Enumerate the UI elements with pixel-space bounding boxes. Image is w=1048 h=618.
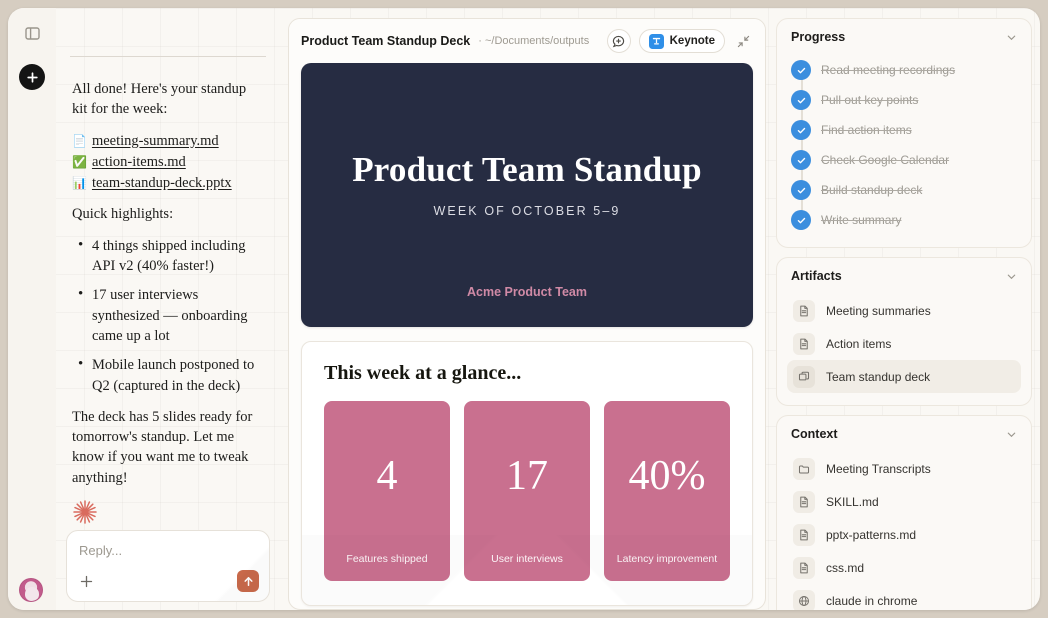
artifact-item-meeting-summaries[interactable]: Meeting summaries [787, 294, 1021, 327]
context-label: Meeting Transcripts [826, 462, 931, 476]
context-item-skill-md[interactable]: SKILL.md [787, 485, 1021, 518]
progress-item[interactable]: Build standup deck [791, 175, 1021, 205]
slide-scroll-area[interactable]: Product Team Standup WEEK OF OCTOBER 5–9… [289, 63, 765, 609]
metric-value: 17 [506, 455, 548, 497]
slide-footer-text: Acme Product Team [467, 285, 587, 299]
chat-transcript: All done! Here's your standup kit for th… [64, 57, 272, 530]
file-link-row[interactable]: 📄 meeting-summary.md [72, 131, 264, 151]
panel-title: Artifacts [791, 269, 842, 283]
check-icon: ✅ [72, 154, 87, 171]
document-card: Product Team Standup Deck · ~/Documents/… [288, 18, 766, 610]
context-panel: Context Meeting Transcripts [776, 415, 1032, 610]
progress-item[interactable]: Read meeting recordings [791, 55, 1021, 85]
check-icon [791, 150, 811, 170]
progress-item-label: Find action items [821, 123, 912, 137]
artifacts-panel: Artifacts Meeting summaries [776, 257, 1032, 406]
artifact-label: Meeting summaries [826, 304, 931, 318]
progress-item[interactable]: Pull out key points [791, 85, 1021, 115]
bar-chart-icon: 📊 [72, 175, 87, 192]
slide-title-text: Product Team Standup [352, 150, 702, 190]
artifacts-header: Artifacts [787, 268, 1021, 283]
chevron-down-icon[interactable] [1006, 271, 1017, 282]
app-root: All done! Here's your standup kit for th… [0, 0, 1048, 618]
slide-title[interactable]: Product Team Standup WEEK OF OCTOBER 5–9… [301, 63, 753, 327]
chevron-down-icon[interactable] [1006, 32, 1017, 43]
assistant-closing: The deck has 5 slides ready for tomorrow… [72, 407, 264, 488]
metric-label: Latency improvement [617, 553, 717, 565]
metric-card: 4 Features shipped [324, 401, 450, 581]
progress-item-label: Pull out key points [821, 93, 918, 107]
chevron-down-icon[interactable] [1006, 429, 1017, 440]
context-item-css-md[interactable]: css.md [787, 551, 1021, 584]
context-label: claude in chrome [826, 594, 917, 608]
list-item: 4 things shipped including API v2 (40% f… [72, 236, 264, 277]
document-icon [793, 524, 815, 546]
highlights-heading: Quick highlights: [72, 204, 264, 224]
globe-icon [793, 590, 815, 611]
artifact-item-team-standup-deck[interactable]: Team standup deck [787, 360, 1021, 393]
folder-icon [793, 458, 815, 480]
document-icon [793, 300, 815, 322]
check-icon [791, 60, 811, 80]
check-icon [791, 120, 811, 140]
slide-subtitle-text: WEEK OF OCTOBER 5–9 [434, 204, 621, 218]
document-icon: 📄 [72, 133, 87, 150]
context-item-pptx-patterns-md[interactable]: pptx-patterns.md [787, 518, 1021, 551]
file-path: · ~/Documents/outputs [478, 35, 598, 47]
panel-title: Progress [791, 30, 845, 44]
file-link[interactable]: team-standup-deck.pptx [92, 173, 232, 193]
sparkle-icon [72, 499, 98, 525]
metric-value: 4 [377, 455, 398, 497]
progress-item[interactable]: Check Google Calendar [791, 145, 1021, 175]
attach-button[interactable] [79, 574, 94, 589]
file-link[interactable]: meeting-summary.md [92, 131, 219, 151]
context-item-claude-in-chrome[interactable]: claude in chrome [787, 584, 1021, 610]
progress-item-label: Write summary [821, 213, 901, 227]
sidebar-toggle-icon[interactable] [19, 20, 45, 46]
reply-input[interactable]: Reply... [79, 543, 257, 558]
slide-metrics[interactable]: This week at a glance... 4 Features ship… [301, 341, 753, 606]
progress-item-label: Check Google Calendar [821, 153, 949, 167]
file-link-list: 📄 meeting-summary.md ✅ action-items.md 📊… [72, 131, 264, 194]
artifact-label: Team standup deck [826, 370, 930, 384]
composer-toolbar [79, 570, 259, 592]
slide-heading: This week at a glance... [324, 362, 730, 385]
file-link-row[interactable]: 📊 team-standup-deck.pptx [72, 173, 264, 193]
open-with-keynote-button[interactable]: Keynote [639, 29, 725, 53]
progress-list: Read meeting recordings Pull out key poi… [787, 55, 1021, 235]
file-link-row[interactable]: ✅ action-items.md [72, 152, 264, 172]
app-window: All done! Here's your standup kit for th… [8, 8, 1040, 610]
artifact-label: Action items [826, 337, 891, 351]
metric-value: 40% [629, 455, 706, 497]
slides-icon [793, 366, 815, 388]
right-sidebar: Progress Read meeting recordings [772, 8, 1040, 610]
left-rail [8, 8, 56, 610]
comment-plus-icon[interactable] [607, 29, 631, 53]
assistant-intro: All done! Here's your standup kit for th… [72, 79, 264, 120]
check-icon [791, 90, 811, 110]
progress-item[interactable]: Write summary [791, 205, 1021, 235]
metric-card: 17 User interviews [464, 401, 590, 581]
list-item: Mobile launch postponed to Q2 (captured … [72, 355, 264, 396]
send-button[interactable] [237, 570, 259, 592]
open-with-label: Keynote [670, 35, 715, 47]
metric-card-grid: 4 Features shipped 17 User interviews 40… [324, 401, 730, 581]
context-label: pptx-patterns.md [826, 528, 916, 542]
list-item: 17 user interviews synthesized — onboard… [72, 285, 264, 346]
check-icon [791, 180, 811, 200]
metric-card: 40% Latency improvement [604, 401, 730, 581]
progress-panel: Progress Read meeting recordings [776, 18, 1032, 248]
check-icon [791, 210, 811, 230]
context-header: Context [787, 426, 1021, 441]
context-label: css.md [826, 561, 864, 575]
progress-header: Progress [787, 29, 1021, 44]
metric-label: User interviews [491, 553, 563, 565]
chat-column: All done! Here's your standup kit for th… [56, 8, 282, 610]
document-icon [793, 333, 815, 355]
reply-composer[interactable]: Reply... [66, 530, 270, 602]
file-link[interactable]: action-items.md [92, 152, 186, 172]
artifact-item-action-items[interactable]: Action items [787, 327, 1021, 360]
page-title: Product Team Standup Deck [301, 34, 470, 48]
panel-title: Context [791, 427, 838, 441]
document-icon [793, 491, 815, 513]
collapse-diagonal-icon[interactable] [733, 31, 753, 51]
progress-item-label: Read meeting recordings [821, 63, 955, 77]
context-item-meeting-transcripts[interactable]: Meeting Transcripts [787, 452, 1021, 485]
progress-item-label: Build standup deck [821, 183, 922, 197]
progress-item[interactable]: Find action items [791, 115, 1021, 145]
document-panel: Product Team Standup Deck · ~/Documents/… [282, 8, 772, 610]
highlight-list: 4 things shipped including API v2 (40% f… [72, 236, 264, 396]
context-label: SKILL.md [826, 495, 879, 509]
metric-label: Features shipped [346, 553, 427, 565]
keynote-app-icon [649, 34, 664, 49]
document-header: Product Team Standup Deck · ~/Documents/… [289, 19, 765, 63]
document-icon [793, 557, 815, 579]
avatar[interactable] [19, 578, 43, 602]
new-chat-button[interactable] [19, 64, 45, 90]
